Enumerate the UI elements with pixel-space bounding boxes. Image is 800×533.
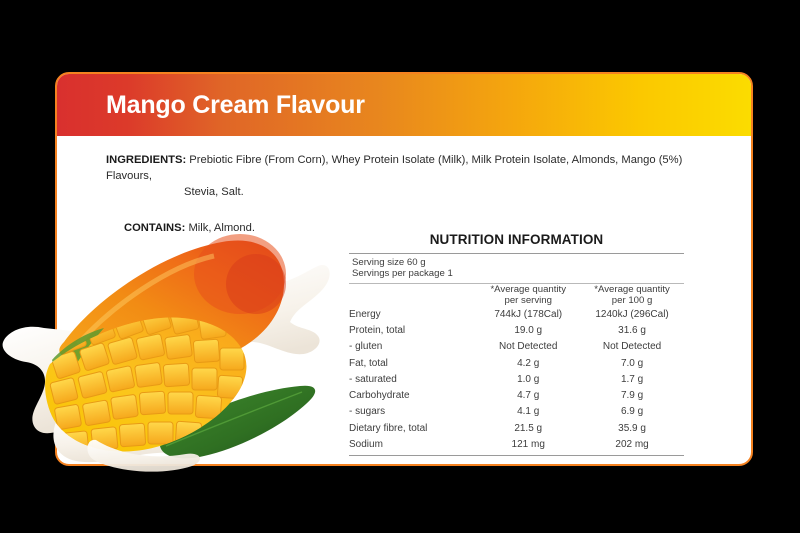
nutrition-row: Carbohydrate4.7 g7.9 g (349, 387, 684, 403)
nutrition-row: - glutenNot DetectedNot Detected (349, 339, 684, 355)
contains-label: CONTAINS: (124, 222, 185, 234)
header-per-100g-line-1: *Average quantity (580, 284, 684, 295)
screenshot-stage: Mango Cream Flavour INGREDIENTS: Prebiot… (0, 0, 800, 533)
nutrient-name: - sugars (349, 404, 476, 420)
ingredients-label: INGREDIENTS: (106, 154, 186, 166)
nutrition-table-head: *Average quantity per serving *Average q… (349, 284, 684, 306)
ingredients-line: INGREDIENTS: Prebiotic Fibre (From Corn)… (106, 152, 726, 200)
header-per-serving-line-2: per serving (476, 295, 580, 306)
nutrition-row: Energy744kJ (178Cal)1240kJ (296Cal) (349, 306, 684, 322)
ingredients-text-line-2: Stevia, Salt. (106, 184, 726, 200)
nutrient-name: Dietary fibre, total (349, 420, 476, 436)
nutrient-name: Sodium (349, 436, 476, 452)
nutrient-per-serving: 21.5 g (476, 420, 580, 436)
nutrient-per-serving: 4.7 g (476, 387, 580, 403)
nutrient-per-serving: 121 mg (476, 436, 580, 452)
nutrient-per-serving: 744kJ (178Cal) (476, 306, 580, 322)
nutrient-per-100g: 7.0 g (580, 355, 684, 371)
nutrient-name: Carbohydrate (349, 387, 476, 403)
header-per-serving-line-1: *Average quantity (476, 284, 580, 295)
nutrient-per-serving: 4.2 g (476, 355, 580, 371)
header-per-100g-line-2: per 100 g (580, 295, 684, 306)
nutrient-per-100g: Not Detected (580, 339, 684, 355)
nutrient-name: Fat, total (349, 355, 476, 371)
nutrition-row: - saturated1.0 g1.7 g (349, 371, 684, 387)
header-nutrient (349, 284, 476, 306)
nutrition-row: Protein, total19.0 g31.6 g (349, 322, 684, 338)
page-title: Mango Cream Flavour (106, 91, 365, 120)
nutrient-per-100g: 31.6 g (580, 322, 684, 338)
ingredients-text-line-1: Prebiotic Fibre (From Corn), Whey Protei… (106, 154, 682, 182)
nutrient-per-100g: 202 mg (580, 436, 684, 452)
nutrient-name: Energy (349, 306, 476, 322)
nutrient-per-serving: 1.0 g (476, 371, 580, 387)
nutrition-row: Fat, total4.2 g7.0 g (349, 355, 684, 371)
nutrient-name: Protein, total (349, 322, 476, 338)
ingredients-block: INGREDIENTS: Prebiotic Fibre (From Corn)… (106, 152, 726, 236)
nutrition-row: - sugars4.1 g6.9 g (349, 404, 684, 420)
nutrient-per-serving: 19.0 g (476, 322, 580, 338)
contains-text: Milk, Almond. (188, 222, 255, 234)
flavour-banner: Mango Cream Flavour (57, 74, 751, 136)
serving-size: Serving size 60 g (352, 257, 684, 268)
nutrition-header-row: *Average quantity per serving *Average q… (349, 284, 684, 306)
nutrition-row: Sodium121 mg202 mg (349, 436, 684, 452)
nutrition-table-body: Energy744kJ (178Cal)1240kJ (296Cal)Prote… (349, 306, 684, 453)
nutrient-name: - saturated (349, 371, 476, 387)
nutrition-table: *Average quantity per serving *Average q… (349, 284, 684, 453)
product-info-card: Mango Cream Flavour INGREDIENTS: Prebiot… (55, 72, 753, 466)
nutrition-information-panel: NUTRITION INFORMATION Serving size 60 g … (349, 232, 684, 456)
nutrition-row: Dietary fibre, total21.5 g35.9 g (349, 420, 684, 436)
nutrient-per-100g: 7.9 g (580, 387, 684, 403)
nutrient-per-serving: Not Detected (476, 339, 580, 355)
nutrition-title: NUTRITION INFORMATION (349, 232, 684, 247)
nutrient-per-100g: 1.7 g (580, 371, 684, 387)
nutrient-per-100g: 35.9 g (580, 420, 684, 436)
nutrient-name: - gluten (349, 339, 476, 355)
nutrient-per-100g: 6.9 g (580, 404, 684, 420)
header-per-100g: *Average quantity per 100 g (580, 284, 684, 306)
nutrient-per-serving: 4.1 g (476, 404, 580, 420)
serving-info: Serving size 60 g Servings per package 1 (349, 254, 684, 283)
servings-per-package: Servings per package 1 (352, 268, 684, 279)
header-per-serving: *Average quantity per serving (476, 284, 580, 306)
nutrition-rule-bottom (349, 455, 684, 456)
nutrient-per-100g: 1240kJ (296Cal) (580, 306, 684, 322)
